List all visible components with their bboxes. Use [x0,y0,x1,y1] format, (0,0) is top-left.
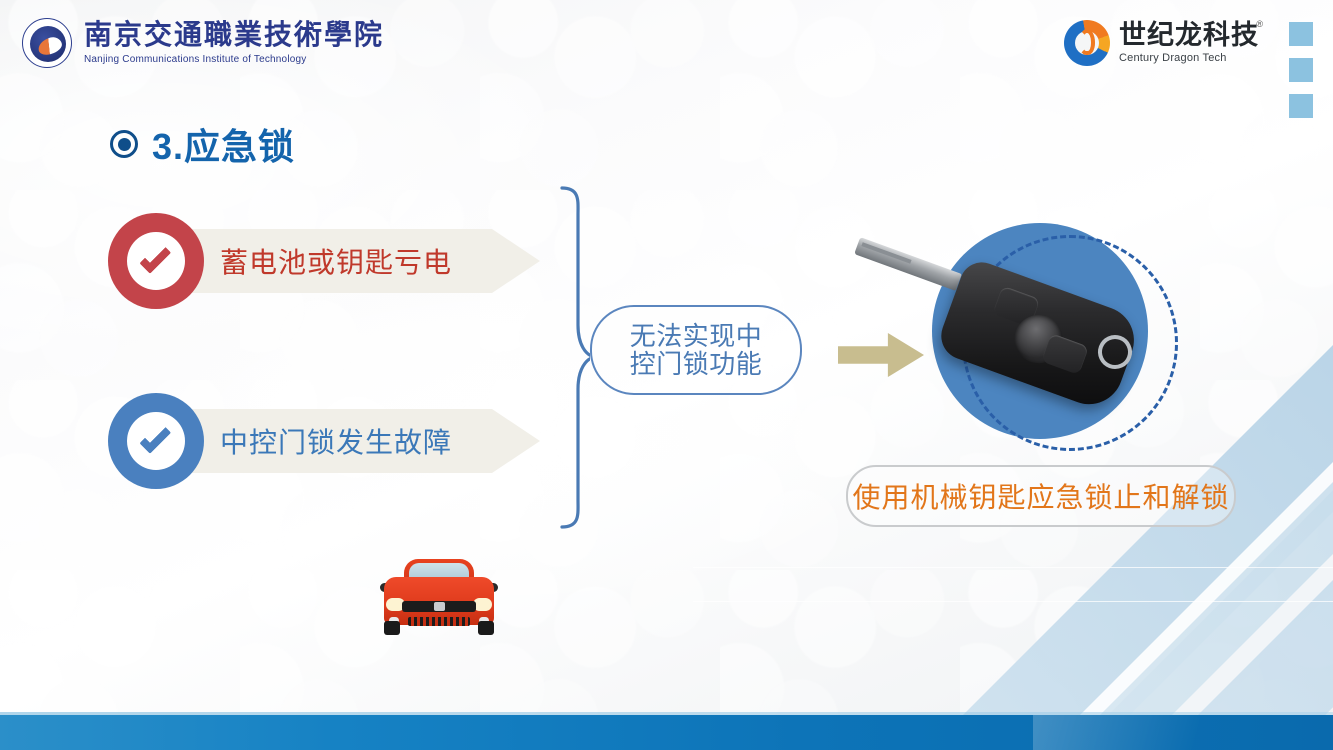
result-bubble-text: 无法实现中控门锁功能 [630,322,763,378]
page-title-text: 3.应急锁 [152,118,295,170]
radio-filled-icon [110,130,138,158]
key-blade [854,237,962,291]
page-title: 3.应急锁 [110,118,295,170]
curly-brace [520,185,590,530]
nanjing-seal-icon [22,18,72,68]
company-name-en: Century Dragon Tech [1119,53,1259,64]
solution-pill-text: 使用机械钥匙应急锁止和解锁 [852,476,1229,516]
company-name: ® 世纪龙科技 Century Dragon Tech [1119,22,1259,64]
institute-name-cn: 南京交通職業技術學院 [84,22,384,50]
dragon-swirl [1079,29,1095,55]
company-name-cn: 世纪龙科技 [1119,22,1259,49]
car-tire-right [478,621,494,635]
corner-squares [1289,22,1313,118]
trunk-button-icon [1041,333,1089,375]
corner-square [1289,22,1313,46]
corner-square [1289,94,1313,118]
right-arrow-icon [838,333,924,377]
company-logo: ® 世纪龙科技 Century Dragon Tech [1064,20,1259,66]
slide-canvas: 南京交通職業技術學院 Nanjing Communications Instit… [0,0,1333,750]
ribbon-highlight-line [693,601,1333,602]
institute-name: 南京交通職業技術學院 Nanjing Communications Instit… [84,22,384,65]
car-key-fob-photo [920,215,1180,465]
footer-bar-highlight [1033,715,1333,750]
seal-ring-text [23,19,71,67]
century-dragon-mark-icon [1064,20,1110,66]
footer-bar [0,715,1333,750]
solution-pill: 使用机械钥匙应急锁止和解锁 [846,465,1236,527]
check-circle-icon [108,213,204,309]
result-bubble: 无法实现中控门锁功能 [590,305,802,395]
check-circle-icon [108,393,204,489]
institute-name-en: Nanjing Communications Institute of Tech… [84,55,384,65]
registered-mark: ® [1256,20,1263,29]
ribbon-stripe [1163,320,1333,750]
car-emblem [434,602,445,611]
red-car-front-photo [380,555,498,637]
car-lower-grille [408,617,470,626]
institute-logo: 南京交通職業技術學院 Nanjing Communications Instit… [22,18,384,68]
car-tire-left [384,621,400,635]
result-line-1: 无法实现中 [630,321,763,351]
cause-label-1: 蓄电池或钥匙亏电 [220,241,452,281]
cause-label-2: 中控门锁发生故障 [220,421,452,461]
ribbon-highlight-line [693,567,1333,568]
corner-square [1289,58,1313,82]
result-line-2: 控门锁功能 [630,349,763,379]
